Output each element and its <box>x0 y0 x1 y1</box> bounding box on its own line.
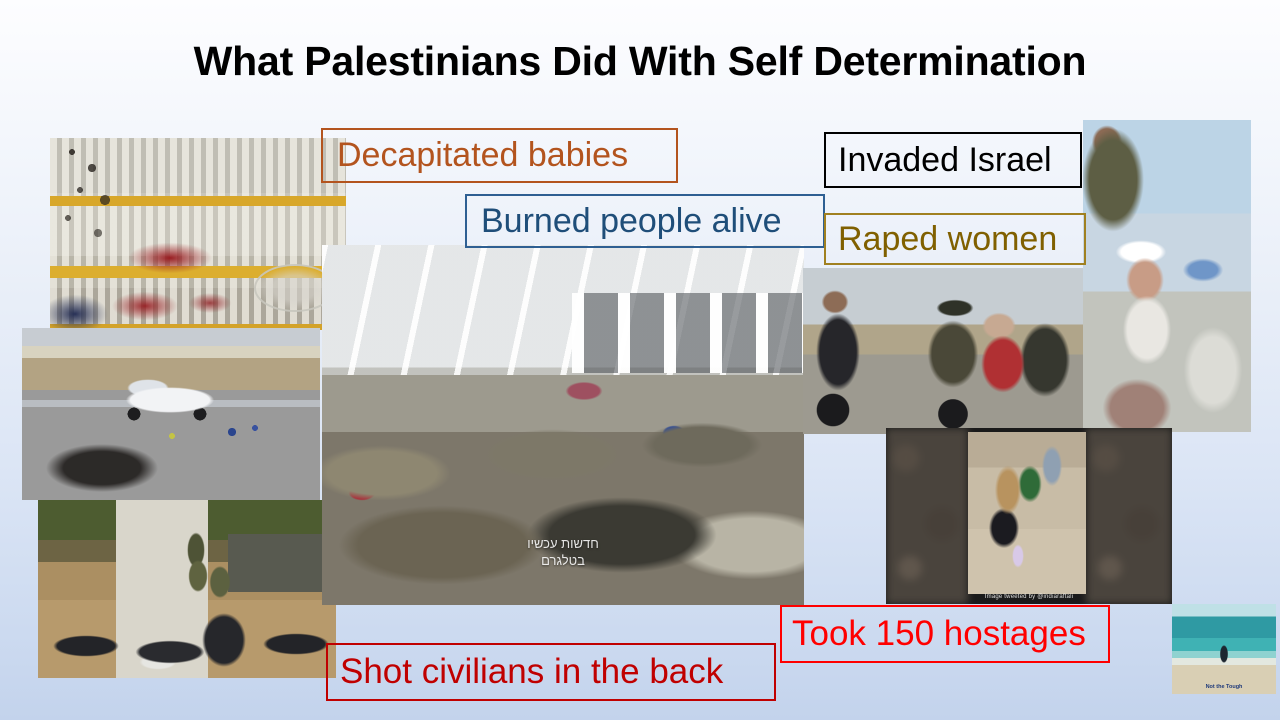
caption-burned-people-alive[interactable]: Burned people alive <box>465 194 825 248</box>
caption-invaded-israel-label: Invaded Israel <box>838 141 1052 180</box>
tent-watermark-line2: בטלגרם <box>322 552 804 569</box>
photo-child-bedroom <box>50 138 346 330</box>
caption-took-150-hostages-label: Took 150 hostages <box>792 614 1086 654</box>
photo-body-bags <box>38 500 336 678</box>
photo-beach-scene: Not the Tough <box>1172 604 1276 694</box>
page-title: What Palestinians Did With Self Determin… <box>0 38 1280 85</box>
caption-decapitated-babies[interactable]: Decapitated babies <box>321 128 678 183</box>
beach-caption: Not the Tough <box>1172 684 1276 690</box>
photo-motorcycle-abduction <box>803 268 1094 434</box>
caption-shot-civilians-in-the-back[interactable]: Shot civilians in the back <box>326 643 776 701</box>
caption-shot-civilians-in-the-back-label: Shot civilians in the back <box>340 652 723 692</box>
photo-credit-caption: Image tweeted by @indiaraftali <box>886 594 1172 600</box>
caption-invaded-israel[interactable]: Invaded Israel <box>824 132 1082 188</box>
caption-burned-people-alive-label: Burned people alive <box>481 202 782 241</box>
photo-festival-crowd-video: TikTok @news.channel <box>1083 120 1251 432</box>
blur-overlay-right <box>1086 428 1172 604</box>
blur-overlay-left <box>886 428 968 604</box>
caption-decapitated-babies-label: Decapitated babies <box>337 136 628 175</box>
photo-inner-frame <box>968 432 1086 594</box>
photo-festival-tent: חדשות עכשיו בטלגרם <box>322 245 804 605</box>
presentation-slide: What Palestinians Did With Self Determin… <box>0 0 1280 720</box>
photo-captives-on-floor: Image tweeted by @indiaraftali <box>886 428 1172 604</box>
caption-raped-women[interactable]: Raped women <box>824 213 1086 265</box>
photo-damaged-car <box>22 328 320 500</box>
tent-watermark-line1: חדשות עכשיו <box>322 535 804 552</box>
caption-took-150-hostages[interactable]: Took 150 hostages <box>780 605 1110 663</box>
tent-watermark: חדשות עכשיו בטלגרם <box>322 535 804 569</box>
caption-raped-women-label: Raped women <box>838 220 1057 259</box>
